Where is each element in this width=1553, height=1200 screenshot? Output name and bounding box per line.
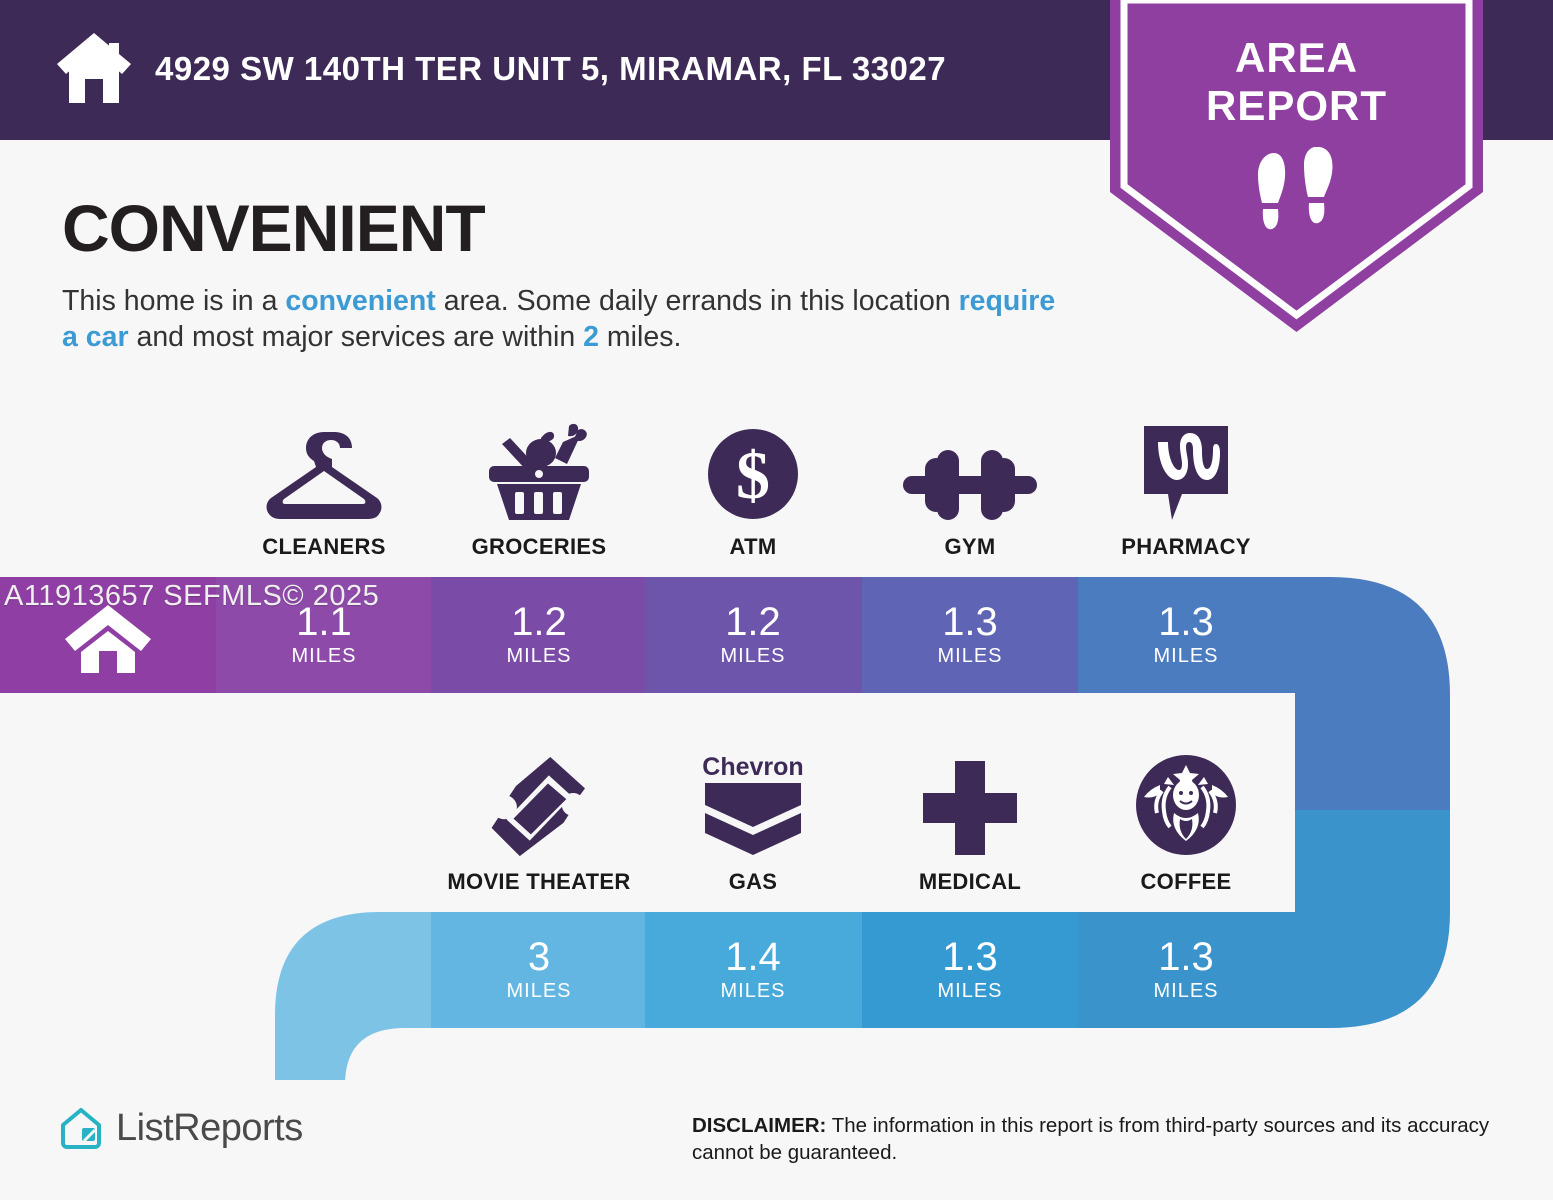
home-icon — [57, 33, 131, 105]
listreports-logo: ListReports — [58, 1104, 303, 1152]
desc-text-2: area. Some daily errands in this locatio… — [436, 285, 959, 317]
category-label: GYM — [862, 534, 1078, 560]
starbucks-siren-icon — [1078, 745, 1294, 857]
category-label: MEDICAL — [862, 869, 1078, 895]
distance-unit: MILES — [1078, 979, 1294, 1003]
distance-unit: MILES — [862, 644, 1078, 668]
category-gym: GYM — [862, 410, 1078, 560]
walgreens-w-icon — [1078, 410, 1294, 522]
distance-unit: MILES — [216, 644, 432, 668]
category-gas: Chevron GAS — [645, 745, 861, 895]
page-description: This home is in a convenient area. Some … — [62, 283, 1072, 355]
medical-cross-icon — [862, 745, 1078, 857]
distance-value: 1.3 — [862, 935, 1078, 979]
category-label: CLEANERS — [216, 534, 432, 560]
home-icon-in-bar — [65, 603, 151, 673]
category-cleaners: CLEANERS — [216, 410, 432, 560]
desc-accent-1: convenient — [285, 285, 435, 317]
distance-value: 1.3 — [862, 600, 1078, 644]
distance-unit: MILES — [645, 644, 861, 668]
grocery-basket-icon — [431, 410, 647, 522]
category-label: ATM — [645, 534, 861, 560]
chevron-wordmark: Chevron — [702, 753, 803, 781]
disclaimer: DISCLAIMER: The information in this repo… — [692, 1112, 1502, 1166]
distance-unit: MILES — [645, 979, 861, 1003]
badge-line-2: REPORT — [1110, 82, 1483, 130]
listreports-house-icon — [58, 1105, 104, 1151]
category-pharmacy: PHARMACY — [1078, 410, 1294, 560]
distance-unit: MILES — [431, 979, 647, 1003]
desc-accent-3: 2 — [583, 321, 599, 353]
distance-gym: 1.3 MILES — [862, 600, 1078, 668]
category-label: GROCERIES — [431, 534, 647, 560]
distance-value: 3 — [431, 935, 647, 979]
distance-unit: MILES — [1078, 644, 1294, 668]
category-label: COFFEE — [1078, 869, 1294, 895]
category-movie-theater: MOVIE THEATER — [431, 745, 647, 895]
distance-value: 1.4 — [645, 935, 861, 979]
page-title: CONVENIENT — [62, 190, 485, 266]
category-label: GAS — [645, 869, 861, 895]
desc-text-4: miles. — [599, 321, 681, 353]
category-groceries: GROCERIES — [431, 410, 647, 560]
distance-pharmacy: 1.3 MILES — [1078, 600, 1294, 668]
disclaimer-label: DISCLAIMER: — [692, 1114, 826, 1137]
distance-value: 1.2 — [431, 600, 647, 644]
distance-unit: MILES — [862, 979, 1078, 1003]
distance-atm: 1.2 MILES — [645, 600, 861, 668]
area-report-page: 4929 SW 140TH TER UNIT 5, MIRAMAR, FL 33… — [0, 0, 1553, 1200]
dollar-coin-icon: $ — [645, 410, 861, 522]
distance-value: 1.3 — [1078, 935, 1294, 979]
distance-cleaners: 1.1 MILES — [216, 600, 432, 668]
chevron-logo-icon: Chevron — [645, 745, 861, 857]
distance-value: 1.2 — [645, 600, 861, 644]
hanger-icon — [216, 410, 432, 522]
category-coffee: COFFEE — [1078, 745, 1294, 895]
desc-text-1: This home is in a — [62, 285, 285, 317]
ticket-icon — [431, 745, 647, 857]
distance-medical: 1.3 MILES — [862, 935, 1078, 1003]
svg-text:$: $ — [736, 437, 770, 513]
distance-groceries: 1.2 MILES — [431, 600, 647, 668]
area-report-badge: AREA REPORT — [1110, 0, 1483, 332]
dumbbell-icon — [862, 410, 1078, 522]
distance-value: 1.3 — [1078, 600, 1294, 644]
property-address: 4929 SW 140TH TER UNIT 5, MIRAMAR, FL 33… — [155, 50, 946, 88]
distance-unit: MILES — [431, 644, 647, 668]
badge-title: AREA REPORT — [1110, 34, 1483, 130]
distance-movie-theater: 3 MILES — [431, 935, 647, 1003]
category-label: MOVIE THEATER — [431, 869, 647, 895]
distance-coffee: 1.3 MILES — [1078, 935, 1294, 1003]
listreports-wordmark: ListReports — [116, 1107, 303, 1150]
desc-text-3: and most major services are within — [129, 321, 584, 353]
distance-gas: 1.4 MILES — [645, 935, 861, 1003]
badge-line-1: AREA — [1110, 34, 1483, 82]
category-label: PHARMACY — [1078, 534, 1294, 560]
distance-value: 1.1 — [216, 600, 432, 644]
snake-turn-top — [1295, 577, 1450, 810]
snake-turn-bottom — [1295, 810, 1450, 1028]
category-medical: MEDICAL — [862, 745, 1078, 895]
category-atm: $ ATM — [645, 410, 861, 560]
footprints-icon — [1248, 147, 1344, 239]
